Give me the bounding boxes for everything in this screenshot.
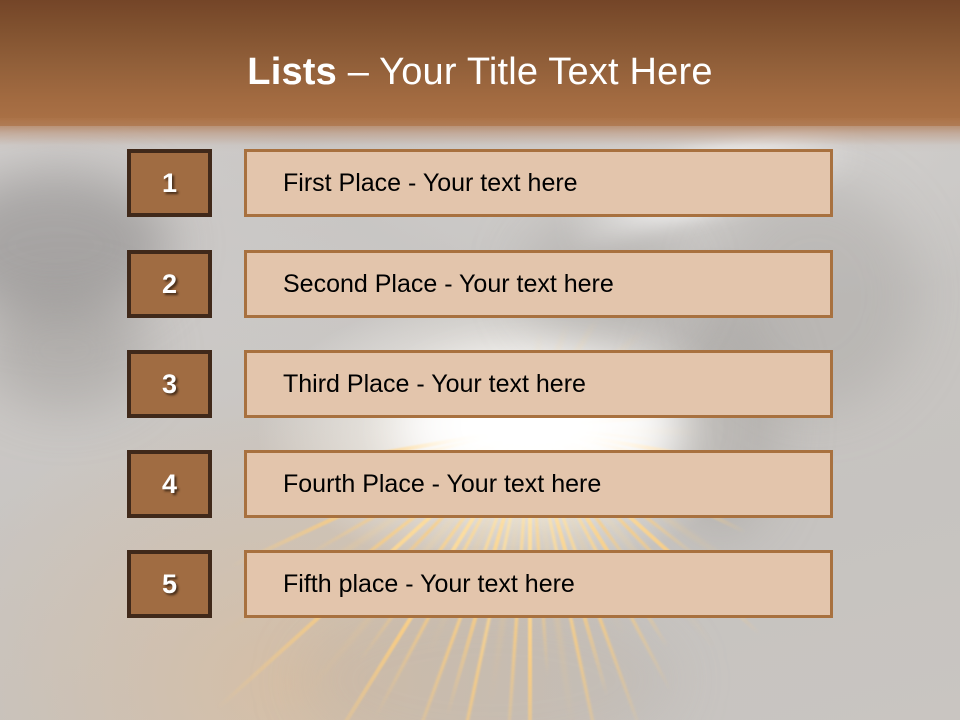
list-item-text-box[interactable]: Second Place - Your text here [244, 250, 833, 318]
list-item-number: 3 [162, 371, 177, 398]
list-item-label: First Place - Your text here [283, 168, 578, 198]
list-item-label: Second Place - Your text here [283, 269, 614, 299]
list-item-number-box[interactable]: 5 [127, 550, 212, 618]
list-item[interactable]: 3Third Place - Your text here [127, 350, 833, 418]
list-item-text-box[interactable]: First Place - Your text here [244, 149, 833, 217]
list-item-label: Fifth place - Your text here [283, 569, 575, 599]
list-item-label: Third Place - Your text here [283, 369, 586, 399]
list-item[interactable]: 5Fifth place - Your text here [127, 550, 833, 618]
slide: Lists – Your Title Text Here 1First Plac… [0, 0, 960, 720]
list-item-number-box[interactable]: 3 [127, 350, 212, 418]
list-item-number: 5 [162, 571, 177, 598]
list-item-number: 4 [162, 471, 177, 498]
list-item-text-box[interactable]: Third Place - Your text here [244, 350, 833, 418]
list-item-number: 1 [162, 170, 177, 197]
list-item-number-box[interactable]: 4 [127, 450, 212, 518]
list-item[interactable]: 4Fourth Place - Your text here [127, 450, 833, 518]
list-item[interactable]: 1First Place - Your text here [127, 149, 833, 217]
list-container: 1First Place - Your text here2Second Pla… [0, 0, 960, 720]
list-item-number-box[interactable]: 2 [127, 250, 212, 318]
list-item-text-box[interactable]: Fourth Place - Your text here [244, 450, 833, 518]
list-item-number-box[interactable]: 1 [127, 149, 212, 217]
list-item-number: 2 [162, 271, 177, 298]
list-item-text-box[interactable]: Fifth place - Your text here [244, 550, 833, 618]
list-item[interactable]: 2Second Place - Your text here [127, 250, 833, 318]
list-item-label: Fourth Place - Your text here [283, 469, 601, 499]
